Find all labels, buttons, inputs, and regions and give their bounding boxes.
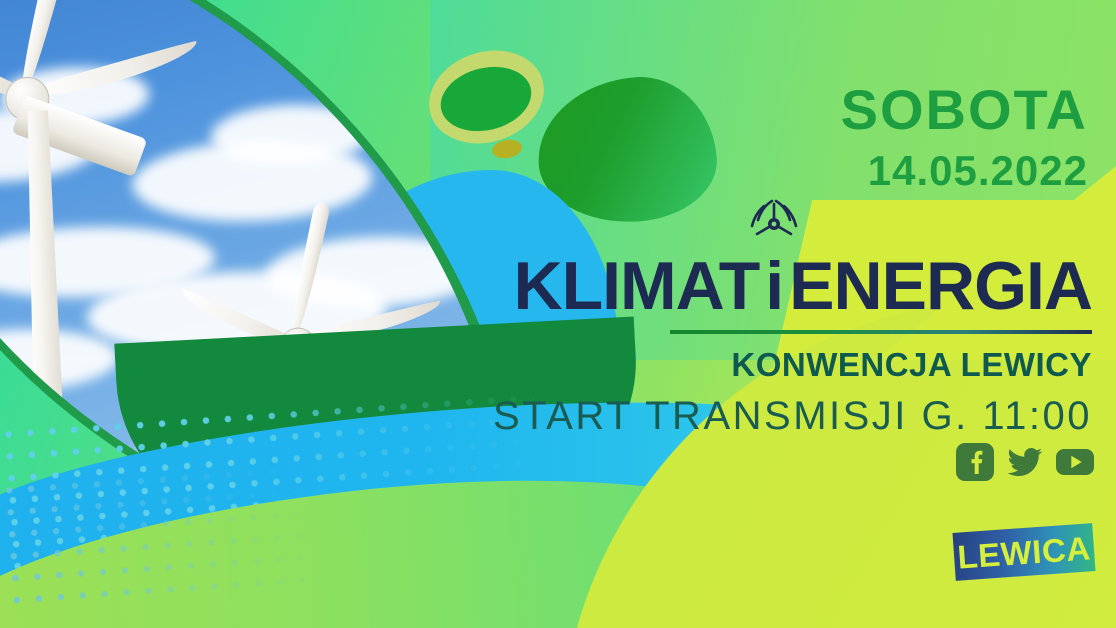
decorative-halftone-dots-lower: [0, 459, 314, 622]
broadcast-info: START TRANSMISJI G. 11:00: [493, 392, 1092, 440]
title-divider: [670, 330, 1092, 334]
lewica-logo[interactable]: LEWICA: [952, 523, 1095, 581]
title-part-one: KLIMAT: [513, 248, 759, 324]
title-part-two: ENERGIA: [789, 248, 1092, 324]
title-conjunction-wrapper: i: [759, 252, 789, 320]
subtitle: KONWENCJA LEWICY: [731, 344, 1092, 385]
wind-turbine-icon: [742, 194, 806, 258]
twitter-icon[interactable]: [1006, 443, 1044, 481]
page-title: KLIMAT iENERGIA: [513, 252, 1092, 320]
poster-canvas: SOBOTA 14.05.2022 KLIMAT iENERGIA KON: [0, 0, 1116, 628]
facebook-icon[interactable]: [956, 443, 994, 481]
lewica-logo-text: LEWICA: [956, 531, 1091, 573]
day-label: SOBOTA: [841, 82, 1088, 138]
youtube-icon[interactable]: [1056, 443, 1094, 481]
event-date: 14.05.2022: [868, 150, 1088, 192]
social-links: [956, 443, 1094, 481]
title-conjunction: i: [765, 248, 783, 324]
